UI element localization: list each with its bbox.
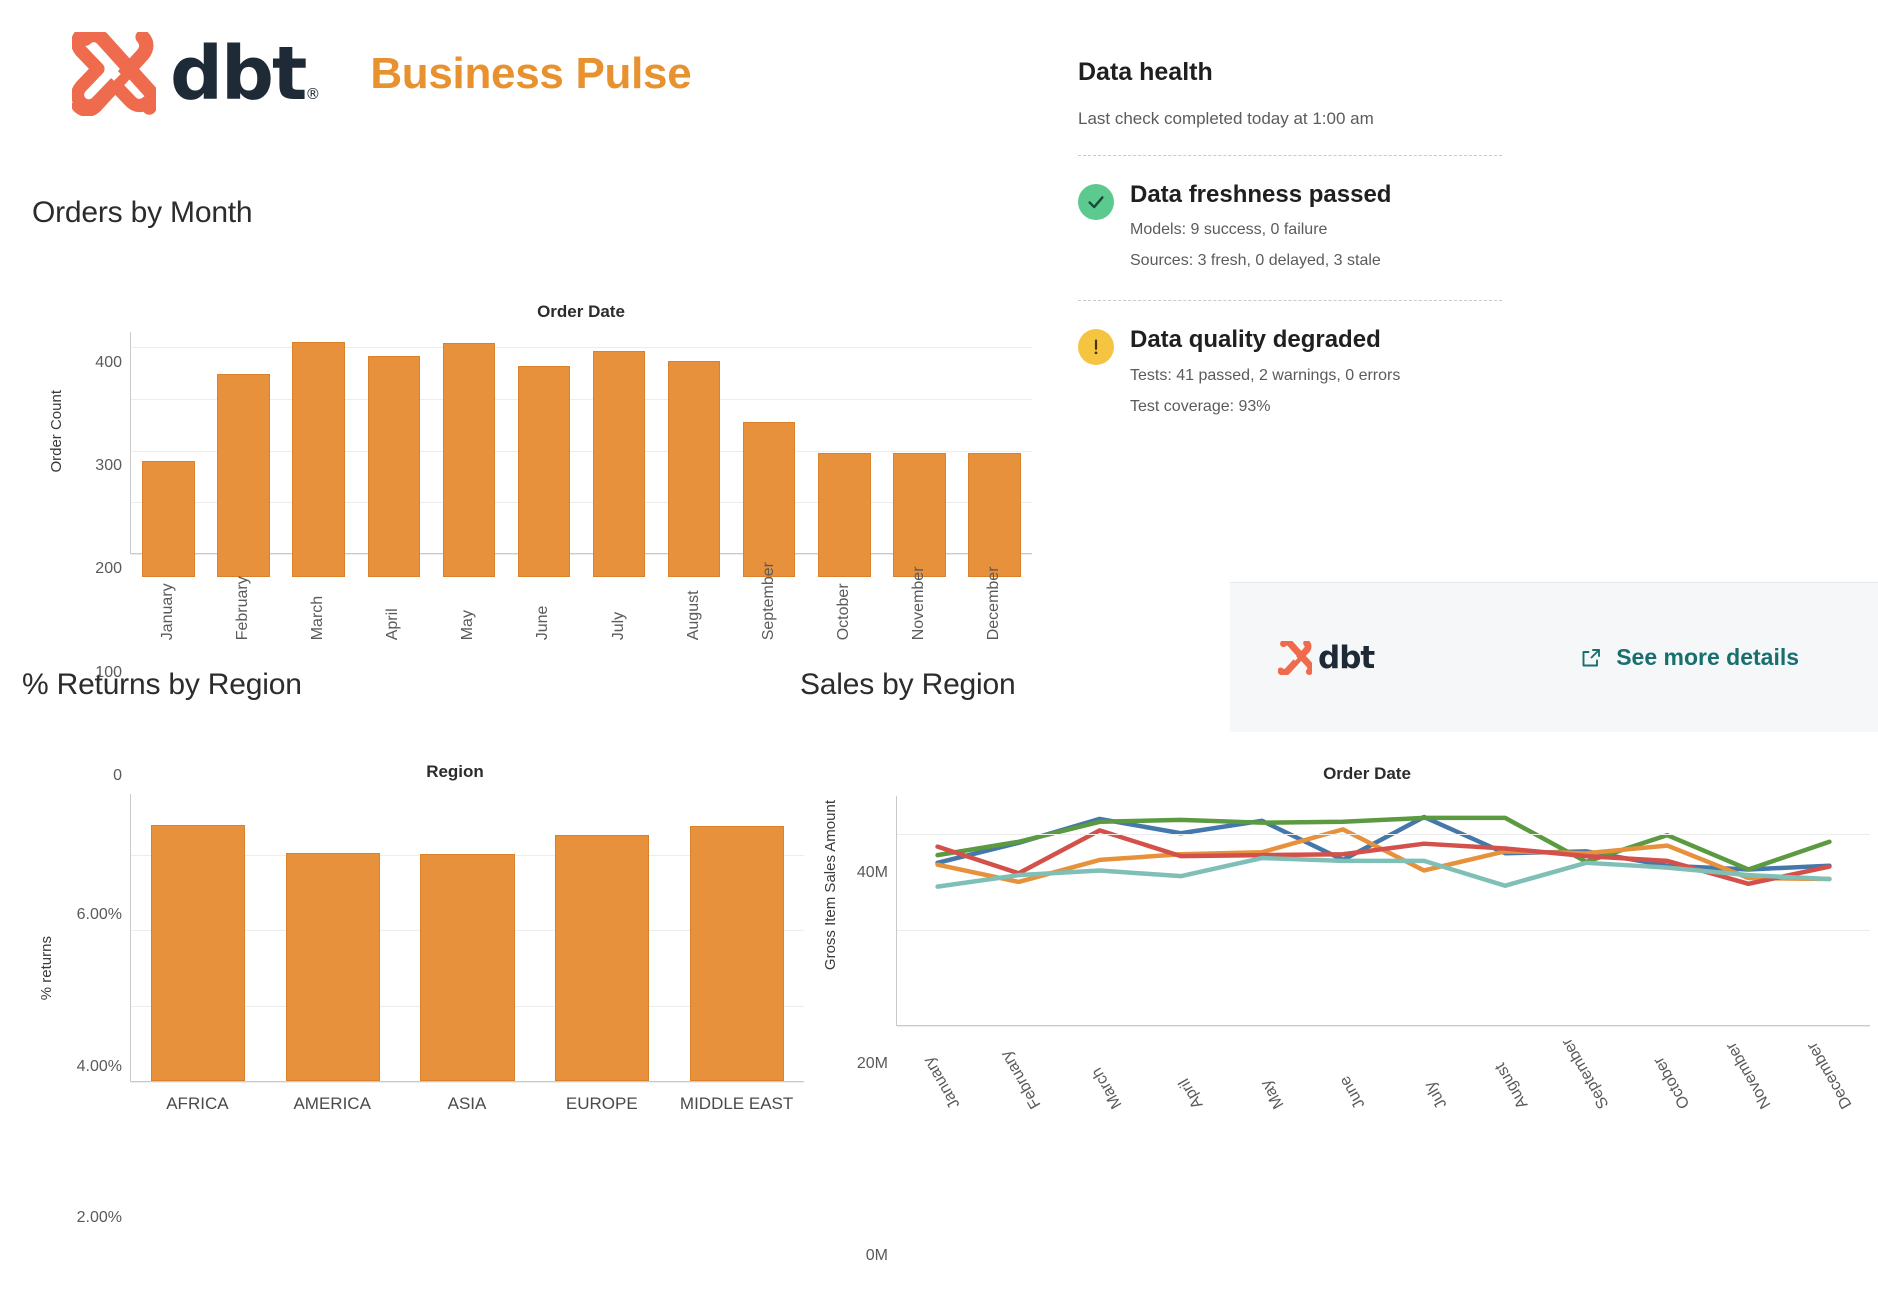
bar[interactable] (593, 351, 646, 577)
dbt-wordmark: dbt® (170, 37, 318, 111)
orders-panel-title: Orders by Month (32, 196, 1032, 230)
status-freshness-heading: Data freshness passed (1130, 182, 1391, 208)
bar-slot[interactable] (131, 332, 206, 553)
bar[interactable] (743, 422, 796, 577)
status-quality-line-1: Tests: 41 passed, 2 warnings, 0 errors (1130, 367, 1400, 385)
status-freshness-line-1: Models: 9 success, 0 failure (1130, 221, 1391, 239)
exclamation-glyph (1085, 336, 1107, 358)
orders-y-axis-title: Order Count (48, 390, 65, 473)
orders-by-month-panel: Orders by Month Order Date Order Count 0… (32, 196, 1032, 636)
bar[interactable] (151, 825, 245, 1081)
x-tick-label: February (977, 1034, 1058, 1112)
bar-slot[interactable] (506, 332, 581, 553)
y-tick-label: 20M (857, 1055, 888, 1073)
x-tick-label: November (1708, 1034, 1789, 1112)
status-quality: Data quality degraded Tests: 41 passed, … (1078, 327, 1878, 415)
x-tick-label: January (130, 562, 205, 640)
bar[interactable] (286, 853, 380, 1081)
bar-slot[interactable] (281, 332, 356, 553)
x-tick-label: September (1545, 1034, 1626, 1112)
bar-group (131, 794, 804, 1081)
dbt-wordmark-small: dbt (1318, 640, 1374, 676)
bar[interactable] (555, 835, 649, 1081)
y-tick-label: 40M (857, 864, 888, 882)
status-freshness: Data freshness passed Models: 9 success,… (1078, 182, 1878, 270)
sales-series-lines (897, 796, 1870, 1025)
bar-slot[interactable] (266, 794, 401, 1081)
dbt-logo-small: dbt (1278, 640, 1374, 676)
x-tick-label: AMERICA (265, 1094, 400, 1114)
returns-panel-title: % Returns by Region (22, 668, 812, 702)
x-tick-label: February (205, 562, 280, 640)
check-circle-icon (1078, 184, 1114, 220)
data-health-panel: Data health Last check completed today a… (1078, 58, 1878, 416)
x-tick-label: November (882, 562, 957, 640)
sales-x-axis-title: Order Date (896, 764, 1838, 784)
bar[interactable] (292, 342, 345, 577)
y-tick-label: 6.00% (77, 906, 122, 924)
bar-slot[interactable] (957, 332, 1032, 553)
x-tick-label: June (1302, 1034, 1383, 1112)
orders-bar-chart: Order Date Order Count 0100200300400 Jan… (32, 240, 1032, 640)
status-freshness-body: Data freshness passed Models: 9 success,… (1130, 182, 1391, 270)
bar[interactable] (968, 453, 1021, 577)
status-quality-body: Data quality degraded Tests: 41 passed, … (1130, 327, 1400, 415)
returns-bar-chart: Region % returns 0.00%2.00%4.00%6.00% AF… (22, 714, 812, 1114)
bar-slot[interactable] (669, 794, 804, 1081)
bar[interactable] (893, 453, 946, 577)
bar[interactable] (217, 374, 270, 577)
see-more-details-link[interactable]: See more details (1579, 644, 1799, 671)
sales-x-tick-labels: JanuaryFebruaryMarchAprilMayJuneJulyAugu… (896, 1034, 1870, 1112)
x-tick-label: March (1058, 1034, 1139, 1112)
x-tick-label: October (1627, 1034, 1708, 1112)
y-tick-label: 300 (95, 457, 122, 475)
data-health-last-check: Last check completed today at 1:00 am (1078, 109, 1878, 129)
bar[interactable] (142, 461, 195, 577)
bar-slot[interactable] (535, 794, 670, 1081)
dbt-x-mark-icon (1278, 641, 1312, 675)
bar-slot[interactable] (581, 332, 656, 553)
dashboard-page: dbt® Business Pulse Orders by Month Orde… (0, 0, 1878, 1312)
orders-x-tick-labels: JanuaryFebruaryMarchAprilMayJuneJulyAugu… (130, 562, 1032, 640)
bar-slot[interactable] (131, 794, 266, 1081)
sales-plot-area: 0M20M40M (896, 796, 1870, 1026)
bar[interactable] (443, 343, 496, 577)
returns-y-axis-title: % returns (38, 936, 55, 1000)
x-tick-label: ASIA (400, 1094, 535, 1114)
bar-slot[interactable] (732, 332, 807, 553)
orders-plot-area: 0100200300400 (130, 332, 1032, 554)
sales-by-region-panel: Sales by Region Order Date Gross Item Sa… (800, 668, 1878, 1108)
x-tick-label: May (1221, 1034, 1302, 1112)
line-series[interactable] (938, 858, 1830, 887)
x-tick-label: May (431, 562, 506, 640)
x-tick-label: October (807, 562, 882, 640)
returns-x-tick-labels: AFRICAAMERICAASIAEUROPEMIDDLE EAST (130, 1094, 804, 1114)
x-tick-label: December (1789, 1034, 1870, 1112)
x-tick-label: AFRICA (130, 1094, 265, 1114)
x-tick-label: August (656, 562, 731, 640)
data-health-title: Data health (1078, 58, 1878, 87)
x-tick-label: June (506, 562, 581, 640)
y-tick-label: 200 (95, 560, 122, 578)
status-quality-heading: Data quality degraded (1130, 327, 1400, 353)
dbt-x-mark-icon (72, 32, 156, 116)
see-more-details-label: See more details (1616, 644, 1799, 671)
bar-slot[interactable] (431, 332, 506, 553)
page-title: Business Pulse (370, 49, 691, 99)
dbt-trademark: ® (305, 85, 318, 103)
returns-plot-area: 0.00%2.00%4.00%6.00% (130, 794, 804, 1082)
warning-circle-icon (1078, 329, 1114, 365)
bar-slot[interactable] (400, 794, 535, 1081)
bar-slot[interactable] (657, 332, 732, 553)
bar[interactable] (690, 826, 784, 1081)
y-tick-label: 4.00% (77, 1058, 122, 1076)
gridline: 0M (897, 1026, 1870, 1027)
returns-by-region-panel: % Returns by Region Region % returns 0.0… (22, 668, 812, 1108)
sales-y-axis-title: Gross Item Sales Amount (822, 800, 839, 970)
returns-x-axis-title: Region (130, 762, 780, 782)
external-link-icon (1579, 646, 1603, 670)
gridline: 40M (897, 834, 1870, 835)
dbt-logo: dbt® (72, 32, 318, 116)
x-tick-label: March (280, 562, 355, 640)
bar-slot[interactable] (807, 332, 882, 553)
gridline: 0.00% (131, 1082, 804, 1083)
x-tick-label: April (356, 562, 431, 640)
x-tick-label: September (731, 562, 806, 640)
bar[interactable] (818, 453, 871, 577)
bar[interactable] (420, 854, 514, 1081)
sales-line-chart: Order Date Gross Item Sales Amount 0M20M… (800, 714, 1878, 1114)
x-tick-label: July (581, 562, 656, 640)
y-tick-label: 0M (866, 1247, 888, 1265)
divider (1078, 155, 1502, 156)
x-tick-label: August (1464, 1034, 1545, 1112)
bar[interactable] (518, 366, 571, 577)
dbt-wordmark-text: dbt (170, 31, 305, 117)
status-quality-line-2: Test coverage: 93% (1130, 398, 1400, 416)
bar[interactable] (368, 356, 421, 577)
bar-slot[interactable] (356, 332, 431, 553)
see-more-details-card[interactable]: dbt See more details (1230, 582, 1878, 732)
y-tick-label: 2.00% (77, 1209, 122, 1227)
dashboard-header: dbt® Business Pulse (72, 32, 691, 116)
bar-group (131, 332, 1032, 553)
x-tick-label: December (957, 562, 1032, 640)
divider (1078, 300, 1502, 301)
status-freshness-line-2: Sources: 3 fresh, 0 delayed, 3 stale (1130, 252, 1391, 270)
bar-slot[interactable] (206, 332, 281, 553)
bar-slot[interactable] (882, 332, 957, 553)
x-tick-label: MIDDLE EAST (669, 1094, 804, 1114)
y-tick-label: 400 (95, 354, 122, 372)
orders-x-axis-title: Order Date (130, 302, 1032, 322)
x-tick-label: April (1140, 1034, 1221, 1112)
bar[interactable] (668, 361, 721, 577)
check-glyph (1085, 191, 1107, 213)
x-tick-label: July (1383, 1034, 1464, 1112)
x-tick-label: January (896, 1034, 977, 1112)
gridline: 20M (897, 930, 1870, 931)
x-tick-label: EUROPE (534, 1094, 669, 1114)
